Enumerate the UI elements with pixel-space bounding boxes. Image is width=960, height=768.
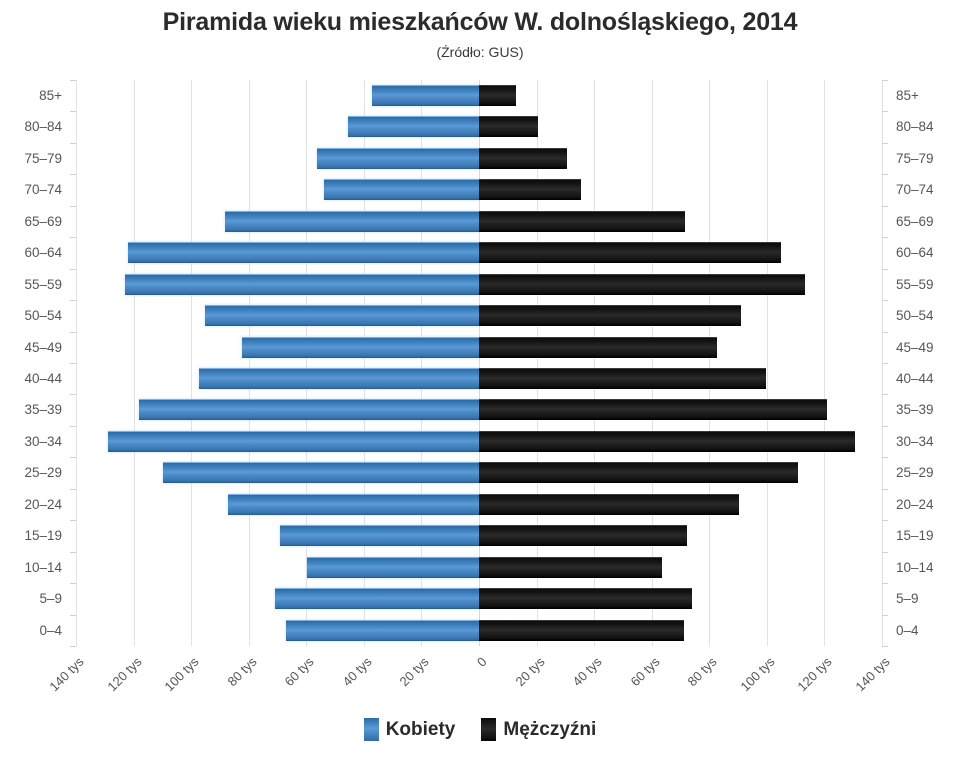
x-tick-neg100: 100 tys [152, 654, 202, 704]
axis-tick-left [70, 269, 76, 270]
axis-tick-right [882, 206, 888, 207]
bar-female-35–39[interactable] [139, 399, 479, 420]
axis-tick-left [70, 520, 76, 521]
bar-male-20–24[interactable] [479, 494, 739, 515]
axis-tick-left [70, 583, 76, 584]
age-label-right-20–24: 20–24 [896, 489, 934, 520]
x-tick-pos20: 20 tys [497, 654, 547, 704]
age-label-left-0–4: 0–4 [39, 615, 62, 646]
axis-tick-right [882, 80, 888, 81]
pyramid-row [76, 583, 882, 614]
axis-tick-right [882, 269, 888, 270]
bar-male-75–79[interactable] [479, 148, 567, 169]
bar-male-80–84[interactable] [479, 116, 538, 137]
bar-female-10–14[interactable] [307, 557, 479, 578]
legend-item-mezczyzni[interactable]: Mężczyźni [481, 718, 596, 741]
axis-tick-left [70, 552, 76, 553]
bar-female-85+[interactable] [372, 85, 479, 106]
axis-tick-left [70, 457, 76, 458]
axis-tick-left [70, 363, 76, 364]
bar-male-0–4[interactable] [479, 620, 684, 641]
bar-female-65–69[interactable] [225, 211, 479, 232]
age-label-left-80–84: 80–84 [24, 111, 62, 142]
age-label-right-45–49: 45–49 [896, 332, 934, 363]
bar-male-45–49[interactable] [479, 337, 717, 358]
age-label-right-70–74: 70–74 [896, 174, 934, 205]
age-label-right-65–69: 65–69 [896, 206, 934, 237]
age-label-left-60–64: 60–64 [24, 237, 62, 268]
bar-female-20–24[interactable] [228, 494, 479, 515]
axis-tick-left [70, 237, 76, 238]
pyramid-row [76, 363, 882, 394]
x-tick-0: 0 [439, 654, 489, 704]
x-tick-neg60: 60 tys [267, 654, 317, 704]
pyramid-row [76, 552, 882, 583]
bar-male-50–54[interactable] [479, 305, 741, 326]
bar-male-25–29[interactable] [479, 462, 798, 483]
x-tick-pos120: 120 tys [785, 654, 835, 704]
bar-male-5–9[interactable] [479, 588, 692, 609]
pyramid-row [76, 332, 882, 363]
age-label-right-75–79: 75–79 [896, 143, 934, 174]
age-label-left-35–39: 35–39 [24, 394, 62, 425]
bar-female-40–44[interactable] [199, 368, 479, 389]
axis-tick-left [70, 646, 76, 647]
bar-female-80–84[interactable] [348, 116, 479, 137]
pyramid-row [76, 143, 882, 174]
axis-tick-right [882, 174, 888, 175]
age-label-right-85+: 85+ [896, 80, 919, 111]
age-label-right-80–84: 80–84 [896, 111, 934, 142]
x-tick-neg80: 80 tys [209, 654, 259, 704]
age-label-left-40–44: 40–44 [24, 363, 62, 394]
x-tick-pos140: 140 tys [842, 654, 892, 704]
axis-tick-left [70, 489, 76, 490]
bar-male-10–14[interactable] [479, 557, 662, 578]
pyramid-row [76, 615, 882, 646]
plot-area [76, 80, 882, 646]
pyramid-row [76, 426, 882, 457]
age-label-left-75–79: 75–79 [24, 143, 62, 174]
legend-label-male: Mężczyźni [503, 719, 596, 741]
legend-swatch-female-icon [364, 718, 379, 741]
bar-female-50–54[interactable] [205, 305, 479, 326]
axis-tick-right [882, 111, 888, 112]
axis-tick-left [70, 394, 76, 395]
pyramid-row [76, 520, 882, 551]
age-label-right-25–29: 25–29 [896, 457, 934, 488]
axis-tick-left [70, 80, 76, 81]
age-label-right-50–54: 50–54 [896, 300, 934, 331]
bar-female-0–4[interactable] [286, 620, 479, 641]
axis-tick-left [70, 174, 76, 175]
bar-male-40–44[interactable] [479, 368, 766, 389]
axis-tick-left [70, 426, 76, 427]
population-pyramid-chart: Piramida wieku mieszkańców W. dolnośląsk… [0, 0, 960, 768]
age-label-right-5–9: 5–9 [896, 583, 919, 614]
x-tick-pos100: 100 tys [727, 654, 777, 704]
bar-female-30–34[interactable] [108, 431, 479, 452]
axis-tick-right [882, 615, 888, 616]
x-tick-pos40: 40 tys [555, 654, 605, 704]
age-labels-right: 85+80–8475–7970–7465–6960–6455–5950–5445… [882, 80, 960, 646]
age-label-right-40–44: 40–44 [896, 363, 934, 394]
axis-tick-right [882, 143, 888, 144]
axis-tick-left [70, 332, 76, 333]
bar-female-60–64[interactable] [128, 242, 479, 263]
axis-tick-left [70, 111, 76, 112]
axis-tick-right [882, 237, 888, 238]
axis-tick-right [882, 300, 888, 301]
age-labels-left: 85+80–8475–7970–7465–6960–6455–5950–5445… [0, 80, 76, 646]
age-label-right-30–34: 30–34 [896, 426, 934, 457]
x-tick-pos80: 80 tys [670, 654, 720, 704]
legend-item-kobiety[interactable]: Kobiety [364, 718, 456, 741]
age-label-left-50–54: 50–54 [24, 300, 62, 331]
axis-tick-right [882, 583, 888, 584]
age-label-left-70–74: 70–74 [24, 174, 62, 205]
pyramid-row [76, 394, 882, 425]
axis-tick-right [882, 394, 888, 395]
axis-tick-left [70, 143, 76, 144]
legend-label-female: Kobiety [386, 719, 456, 741]
chart-legend: Kobiety Mężczyźni [0, 718, 960, 741]
pyramid-row [76, 489, 882, 520]
pyramid-row [76, 457, 882, 488]
bar-female-70–74[interactable] [324, 179, 479, 200]
pyramid-row [76, 111, 882, 142]
axis-tick-right [882, 426, 888, 427]
axis-tick-right [882, 457, 888, 458]
pyramid-row [76, 300, 882, 331]
bar-female-5–9[interactable] [275, 588, 479, 609]
axis-tick-right [882, 520, 888, 521]
age-label-left-55–59: 55–59 [24, 269, 62, 300]
x-tick-neg140: 140 tys [36, 654, 86, 704]
age-label-right-60–64: 60–64 [896, 237, 934, 268]
axis-tick-right [882, 489, 888, 490]
age-label-left-25–29: 25–29 [24, 457, 62, 488]
x-tick-pos60: 60 tys [612, 654, 662, 704]
x-tick-neg40: 40 tys [324, 654, 374, 704]
age-label-right-35–39: 35–39 [896, 394, 934, 425]
bar-female-15–19[interactable] [280, 525, 479, 546]
age-label-right-0–4: 0–4 [896, 615, 919, 646]
bar-male-85+[interactable] [479, 85, 516, 106]
age-label-left-85+: 85+ [39, 80, 62, 111]
age-label-right-10–14: 10–14 [896, 552, 934, 583]
x-axis-tick-labels: 140 tys120 tys100 tys80 tys60 tys40 tys2… [0, 648, 960, 708]
x-tick-neg120: 120 tys [94, 654, 144, 704]
axis-tick-right [882, 363, 888, 364]
chart-subtitle: (Źródło: GUS) [0, 44, 960, 60]
chart-title: Piramida wieku mieszkańców W. dolnośląsk… [0, 8, 960, 37]
bar-male-30–34[interactable] [479, 431, 855, 452]
age-label-left-20–24: 20–24 [24, 489, 62, 520]
pyramid-row [76, 174, 882, 205]
bar-male-70–74[interactable] [479, 179, 581, 200]
legend-swatch-male-icon [481, 718, 496, 741]
age-label-left-10–14: 10–14 [24, 552, 62, 583]
pyramid-row [76, 237, 882, 268]
pyramid-row [76, 80, 882, 111]
axis-tick-left [70, 300, 76, 301]
pyramid-row [76, 269, 882, 300]
age-label-left-45–49: 45–49 [24, 332, 62, 363]
age-label-left-15–19: 15–19 [24, 520, 62, 551]
bar-female-55–59[interactable] [125, 274, 479, 295]
bar-male-60–64[interactable] [479, 242, 781, 263]
age-label-left-30–34: 30–34 [24, 426, 62, 457]
age-label-left-65–69: 65–69 [24, 206, 62, 237]
age-label-left-5–9: 5–9 [39, 583, 62, 614]
bar-male-15–19[interactable] [479, 525, 687, 546]
bar-male-35–39[interactable] [479, 399, 827, 420]
bar-female-25–29[interactable] [163, 462, 479, 483]
bar-female-45–49[interactable] [242, 337, 479, 358]
axis-tick-left [70, 615, 76, 616]
axis-tick-right [882, 646, 888, 647]
bar-male-65–69[interactable] [479, 211, 685, 232]
bar-female-75–79[interactable] [317, 148, 479, 169]
age-label-right-15–19: 15–19 [896, 520, 934, 551]
axis-tick-right [882, 552, 888, 553]
axis-tick-left [70, 206, 76, 207]
pyramid-row [76, 206, 882, 237]
age-label-right-55–59: 55–59 [896, 269, 934, 300]
bar-male-55–59[interactable] [479, 274, 805, 295]
axis-tick-right [882, 332, 888, 333]
x-tick-neg20: 20 tys [382, 654, 432, 704]
